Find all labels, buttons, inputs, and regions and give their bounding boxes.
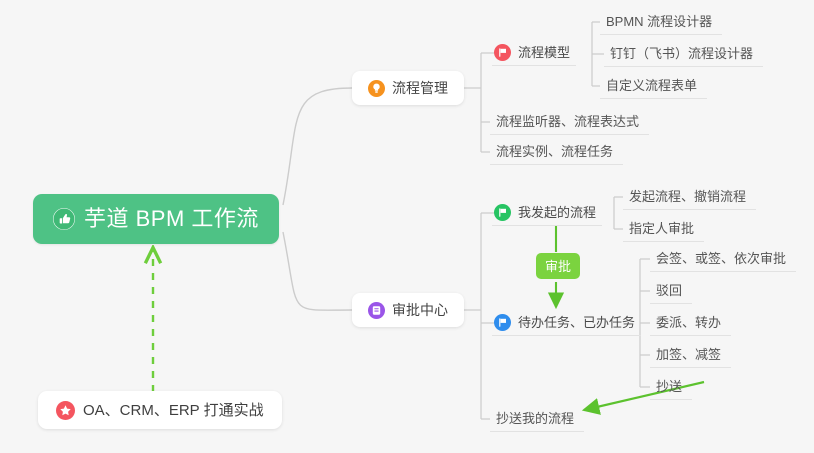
leaf-node-custom-process-form[interactable]: 自定义流程表单 — [600, 73, 707, 99]
topic-node-cc-to-me[interactable]: 抄送我的流程 — [490, 406, 584, 432]
root-node-label: 芋道 BPM 工作流 — [84, 208, 259, 230]
topic-node-todo-done-tasks[interactable]: 待办任务、已办任务 — [492, 310, 641, 336]
topic-label: 流程实例、流程任务 — [496, 145, 613, 158]
branch-label-approval-center: 审批中心 — [392, 303, 448, 317]
mindmap-canvas: 芋道 BPM 工作流 流程管理 流程模型 BPMN 流程设计器 钉钉（飞书）流程… — [0, 0, 814, 453]
leaf-label: 自定义流程表单 — [606, 79, 697, 92]
leaf-label: 钉钉（飞书）流程设计器 — [610, 47, 753, 60]
flag-icon — [494, 44, 511, 61]
topic-node-process-model[interactable]: 流程模型 — [492, 40, 576, 66]
branch-label-process-management: 流程管理 — [392, 81, 448, 95]
branch-node-process-management[interactable]: 流程管理 — [352, 71, 464, 105]
leaf-node-add-remove-sign[interactable]: 加签、减签 — [650, 342, 731, 368]
leaf-label: 指定人审批 — [629, 222, 694, 235]
topic-node-my-started-process[interactable]: 我发起的流程 — [492, 200, 602, 226]
leaf-node-countersign[interactable]: 会签、或签、依次审批 — [650, 246, 796, 272]
leaf-node-delegate-transfer[interactable]: 委派、转办 — [650, 310, 731, 336]
leaf-node-dingtalk-feishu-designer[interactable]: 钉钉（飞书）流程设计器 — [604, 41, 763, 67]
leaf-label: 驳回 — [656, 284, 682, 297]
flag-icon — [494, 314, 511, 331]
leaf-label: 抄送 — [656, 380, 682, 393]
leaf-node-assignee-approval[interactable]: 指定人审批 — [623, 216, 704, 242]
branch-node-approval-center[interactable]: 审批中心 — [352, 293, 464, 327]
topic-label: 流程监听器、流程表达式 — [496, 115, 639, 128]
thumbs-up-icon — [53, 208, 75, 230]
annotation-chip-approval[interactable]: 审批 — [536, 253, 580, 279]
leaf-label: 会签、或签、依次审批 — [656, 252, 786, 265]
lightbulb-icon — [368, 80, 385, 97]
leaf-label: BPMN 流程设计器 — [606, 15, 712, 28]
edge-root-to-process-management — [283, 88, 352, 205]
leaf-label: 加签、减签 — [656, 348, 721, 361]
leaf-node-reject[interactable]: 驳回 — [650, 278, 692, 304]
clipboard-icon — [368, 302, 385, 319]
topic-label: 抄送我的流程 — [496, 412, 574, 425]
flag-icon — [494, 204, 511, 221]
leaf-label: 发起流程、撤销流程 — [629, 190, 746, 203]
leaf-node-bpmn-designer[interactable]: BPMN 流程设计器 — [600, 9, 722, 35]
star-icon — [56, 401, 75, 420]
topic-label-process-model: 流程模型 — [518, 46, 570, 59]
annotation-label: 审批 — [545, 260, 571, 273]
root-node[interactable]: 芋道 BPM 工作流 — [33, 194, 279, 244]
topic-label-todo-done-tasks: 待办任务、已办任务 — [518, 316, 635, 329]
leaf-node-cc[interactable]: 抄送 — [650, 374, 692, 400]
topic-node-listener-expression[interactable]: 流程监听器、流程表达式 — [490, 109, 649, 135]
topic-label-my-started-process: 我发起的流程 — [518, 206, 596, 219]
edge-root-to-approval-center — [283, 232, 352, 310]
free-node-label: OA、CRM、ERP 打通实战 — [83, 403, 264, 418]
free-node-integration[interactable]: OA、CRM、ERP 打通实战 — [38, 391, 282, 429]
topic-node-instance-task[interactable]: 流程实例、流程任务 — [490, 139, 623, 165]
leaf-node-start-cancel-process[interactable]: 发起流程、撤销流程 — [623, 184, 756, 210]
leaf-label: 委派、转办 — [656, 316, 721, 329]
